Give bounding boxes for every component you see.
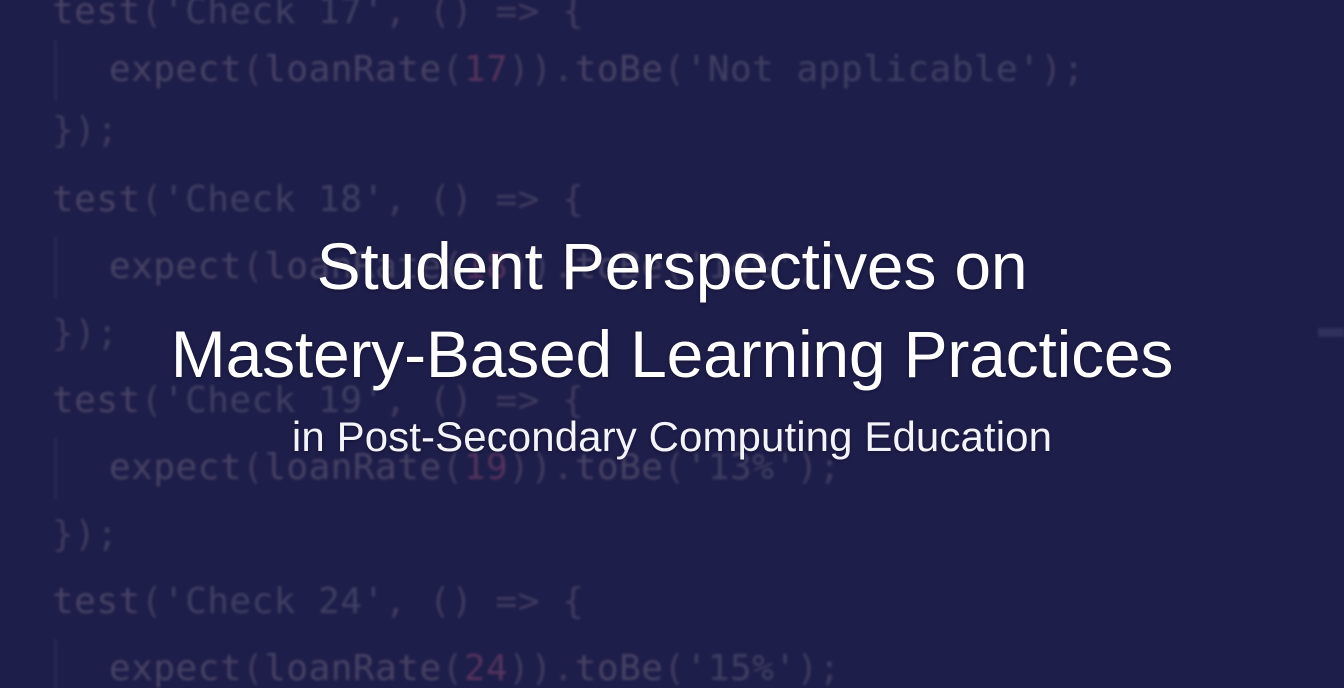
title-slide: test('Check 17', () => {expect(loanRate(… — [0, 0, 1344, 688]
title-line-2: Mastery-Based Learning Practices — [171, 317, 1173, 391]
title-line-1: Student Perspectives on — [317, 229, 1028, 303]
page-title: Student Perspectives onMastery-Based Lea… — [171, 222, 1173, 398]
page-subtitle: in Post-Secondary Computing Education — [292, 408, 1052, 466]
title-block: Student Perspectives onMastery-Based Lea… — [0, 0, 1344, 688]
